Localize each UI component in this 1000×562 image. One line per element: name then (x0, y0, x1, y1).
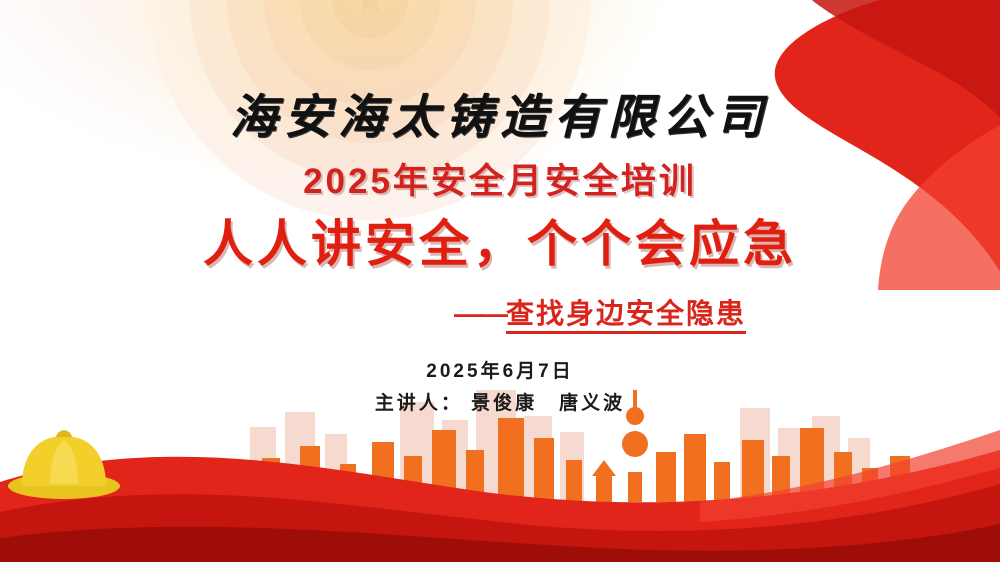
training-subtitle: 2025年安全月安全培训 (0, 153, 1000, 204)
tagline-text: 查找身边安全隐患 (506, 298, 746, 334)
speaker-text: 主讲人： 景俊康 唐义波 (0, 388, 1000, 415)
date-text: 2025年6月7日 (0, 356, 1000, 383)
tagline: ——查找身边安全隐患 (0, 292, 1000, 332)
slogan-text: 人人讲安全，个个会应急 (0, 204, 1000, 276)
slide-text-block: 海安海太铸造有限公司 2025年安全月安全培训 人人讲安全，个个会应急 ——查找… (0, 0, 1000, 562)
tagline-dash: —— (454, 298, 506, 329)
presentation-slide: ★ (0, 0, 1000, 562)
company-name: 海安海太铸造有限公司 (0, 78, 1000, 147)
